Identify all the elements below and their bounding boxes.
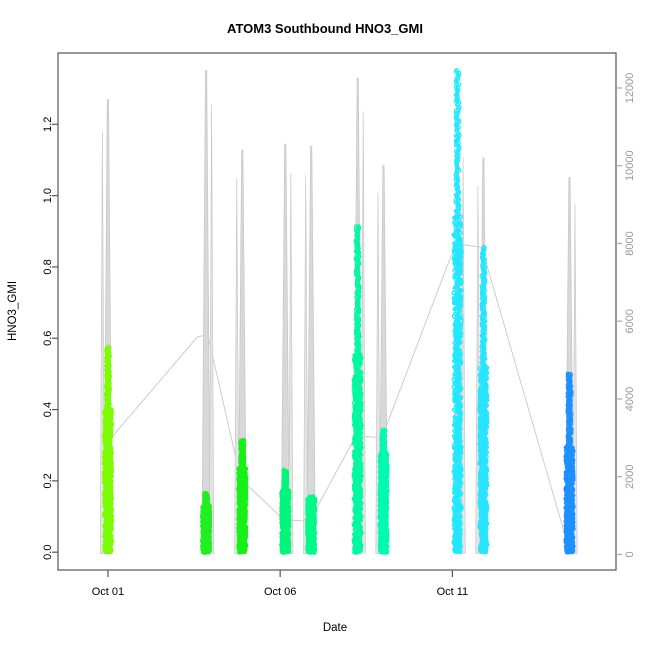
flight-column: [306, 495, 317, 554]
y2-tick-label: 6000: [624, 309, 636, 333]
plot-background: [0, 0, 650, 650]
y2-tick-label: 2000: [624, 464, 636, 488]
y-tick-label: 1.2: [42, 117, 54, 132]
y2-tick-label: 10000: [624, 150, 636, 181]
y-tick-label: 0.6: [42, 331, 54, 346]
chart-title: ATOM3 Southbound HNO3_GMI: [227, 21, 423, 36]
y-tick-label: 0.0: [42, 545, 54, 560]
y-tick-label: 0.8: [42, 259, 54, 274]
y-tick-label: 0.2: [42, 473, 54, 488]
y-tick-label: 0.4: [42, 402, 54, 417]
y2-tick-label: 0: [624, 551, 636, 557]
scatter-plot: ATOM3 Southbound HNO3_GMI HNO3_GMI Date …: [0, 0, 650, 650]
y2-tick-label: 8000: [624, 231, 636, 255]
y2-tick-label: 12000: [624, 73, 636, 104]
y2-tick-label: 4000: [624, 387, 636, 411]
y-tick-label: 1.0: [42, 188, 54, 203]
y-axis-label: HNO3_GMI: [7, 281, 19, 341]
chart-page: ATOM3 Southbound HNO3_GMI HNO3_GMI Date …: [0, 0, 650, 650]
x-tick-label: Oct 11: [437, 586, 469, 598]
x-tick-label: Oct 01: [92, 586, 124, 598]
x-axis-label: Date: [323, 622, 347, 634]
x-tick-label: Oct 06: [264, 586, 296, 598]
